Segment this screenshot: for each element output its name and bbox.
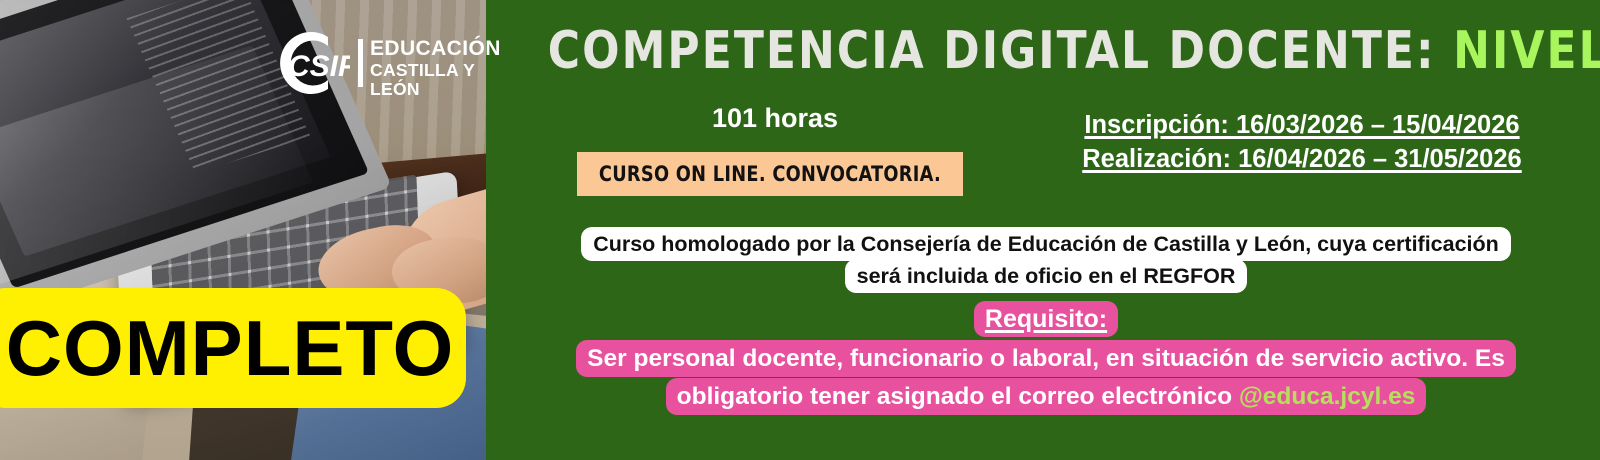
requisite-text: Ser personal docente, funcionario o labo… [518, 340, 1574, 416]
csif-wordmark: CSIF [288, 50, 350, 83]
homologation-note: Curso homologado por la Consejería de Ed… [526, 228, 1566, 293]
csif-logo-text: EDUCACIÓN CASTILLA Y LEÓN [370, 37, 501, 100]
requisite-line-2-prefix: obligatorio tener asignado el correo ele… [677, 383, 1239, 410]
csif-education-label: EDUCACIÓN [370, 37, 501, 61]
requisite-heading: Requisito: [974, 301, 1118, 337]
page-title: COMPETENCIA DIGITAL DOCENTE: NIVEL B2 [548, 24, 1544, 79]
course-dates: Inscripción: 16/03/2026 – 15/04/2026 Rea… [1026, 108, 1578, 176]
course-info-panel: COMPETENCIA DIGITAL DOCENTE: NIVEL B2 10… [486, 0, 1600, 460]
csif-c-ring-icon: CSIF [258, 27, 350, 99]
homologation-line-1: Curso homologado por la Consejería de Ed… [581, 227, 1511, 261]
course-title-main: COMPETENCIA DIGITAL DOCENTE: [548, 21, 1453, 81]
requisite-heading-wrap: Requisito: [526, 302, 1566, 338]
requisite-line-1: Ser personal docente, funcionario o labo… [576, 340, 1516, 377]
enrollment-dates: Inscripción: 16/03/2026 – 15/04/2026 [1026, 108, 1578, 142]
course-modality-badge: CURSO ON LINE. CONVOCATORIA. [577, 152, 963, 196]
educa-email-domain: @educa.jcyl.es [1239, 383, 1415, 410]
csif-region-label: CASTILLA Y LEÓN [370, 61, 501, 100]
execution-dates: Realización: 16/04/2026 – 31/05/2026 [1026, 142, 1578, 176]
status-badge: COMPLETO [0, 288, 466, 408]
requisite-line-2: obligatorio tener asignado el correo ele… [666, 378, 1427, 415]
course-hours: 101 horas [580, 103, 970, 134]
course-title-level: NIVEL B2 [1453, 21, 1600, 81]
course-modality-label: CURSO ON LINE. CONVOCATORIA. [599, 162, 941, 186]
homologation-line-2: será incluida de oficio en el REGFOR [845, 259, 1248, 293]
course-promo-banner: CSIF EDUCACIÓN CASTILLA Y LEÓN COMPLETO … [0, 0, 1600, 460]
csif-logo-divider [358, 39, 363, 87]
csif-logo: CSIF EDUCACIÓN CASTILLA Y LEÓN [258, 27, 468, 99]
status-badge-label: COMPLETO [0, 309, 454, 387]
